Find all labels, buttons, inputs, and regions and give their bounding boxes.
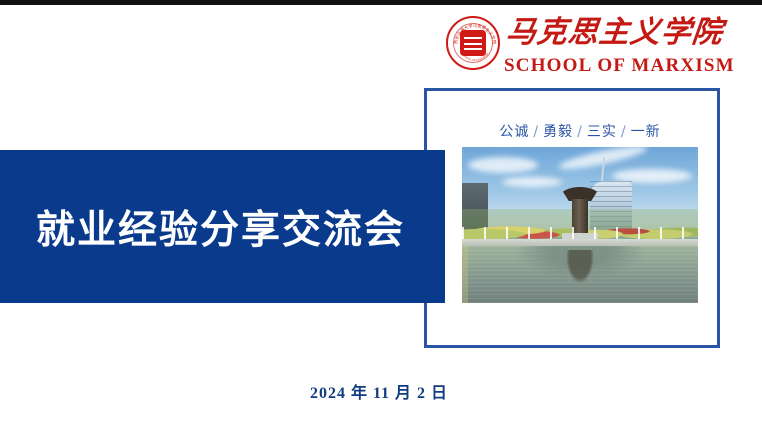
presentation-slide: 西安交通大学马克思主义学院 SCHOOL OF MARXISM 马克思主义学院 … — [0, 0, 762, 429]
institution-name-en: SCHOOL OF MARXISM — [504, 55, 704, 77]
slide-date: 2024 年 11 月 2 日 — [0, 379, 762, 403]
motto-item-0: 公诚 — [499, 124, 529, 140]
motto-item-2: 三实 — [587, 124, 617, 140]
school-logo-lockup: 西安交通大学马克思主义学院 SCHOOL OF MARXISM 马克思主义学院 … — [446, 13, 704, 75]
photo-cloud — [468, 157, 538, 173]
svg-text:SCHOOL OF MARXISM: SCHOOL OF MARXISM — [461, 52, 490, 62]
title-banner: 就业经验分享交流会 — [0, 150, 445, 303]
institution-name-cn: 马克思主义学院 — [504, 13, 706, 53]
svg-text:西安交通大学马克思主义学院: 西安交通大学马克思主义学院 — [453, 22, 498, 45]
motto-separator-1: / — [573, 124, 587, 140]
photo-cloud — [502, 177, 562, 187]
motto-separator-2: / — [617, 124, 631, 140]
motto-separator-0: / — [529, 124, 543, 140]
seal-arc-text: 西安交通大学马克思主义学院 SCHOOL OF MARXISM — [448, 18, 502, 72]
slide-date-text: 2024 年 11 月 2 日 — [310, 379, 448, 403]
motto-item-1: 勇毅 — [543, 124, 573, 140]
school-motto: 公诚/勇毅/三实/一新 — [462, 121, 698, 141]
campus-photo — [462, 147, 698, 303]
photo-sculpture-reflection — [566, 250, 594, 284]
school-seal-icon: 西安交通大学马克思主义学院 SCHOOL OF MARXISM — [446, 16, 500, 70]
slide-title: 就业经验分享交流会 — [36, 199, 405, 255]
motto-item-3: 一新 — [631, 124, 661, 140]
top-edge-bar — [0, 0, 762, 5]
photo-lake-water — [462, 246, 698, 303]
